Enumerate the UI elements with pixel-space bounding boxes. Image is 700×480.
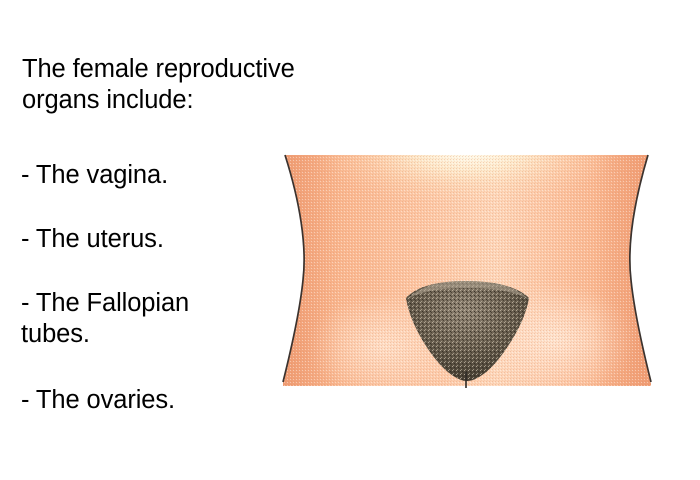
page-title: The female reproductive organs include: xyxy=(22,54,342,116)
female-pelvis-anatomy-illustration xyxy=(276,150,658,392)
slide-canvas: The female reproductive organs include: … xyxy=(0,0,700,480)
list-item: - The ovaries. xyxy=(21,385,175,416)
list-item: - The vagina. xyxy=(21,160,168,191)
list-item: - The uterus. xyxy=(21,224,164,255)
list-item: - The Fallopian tubes. xyxy=(21,288,189,350)
